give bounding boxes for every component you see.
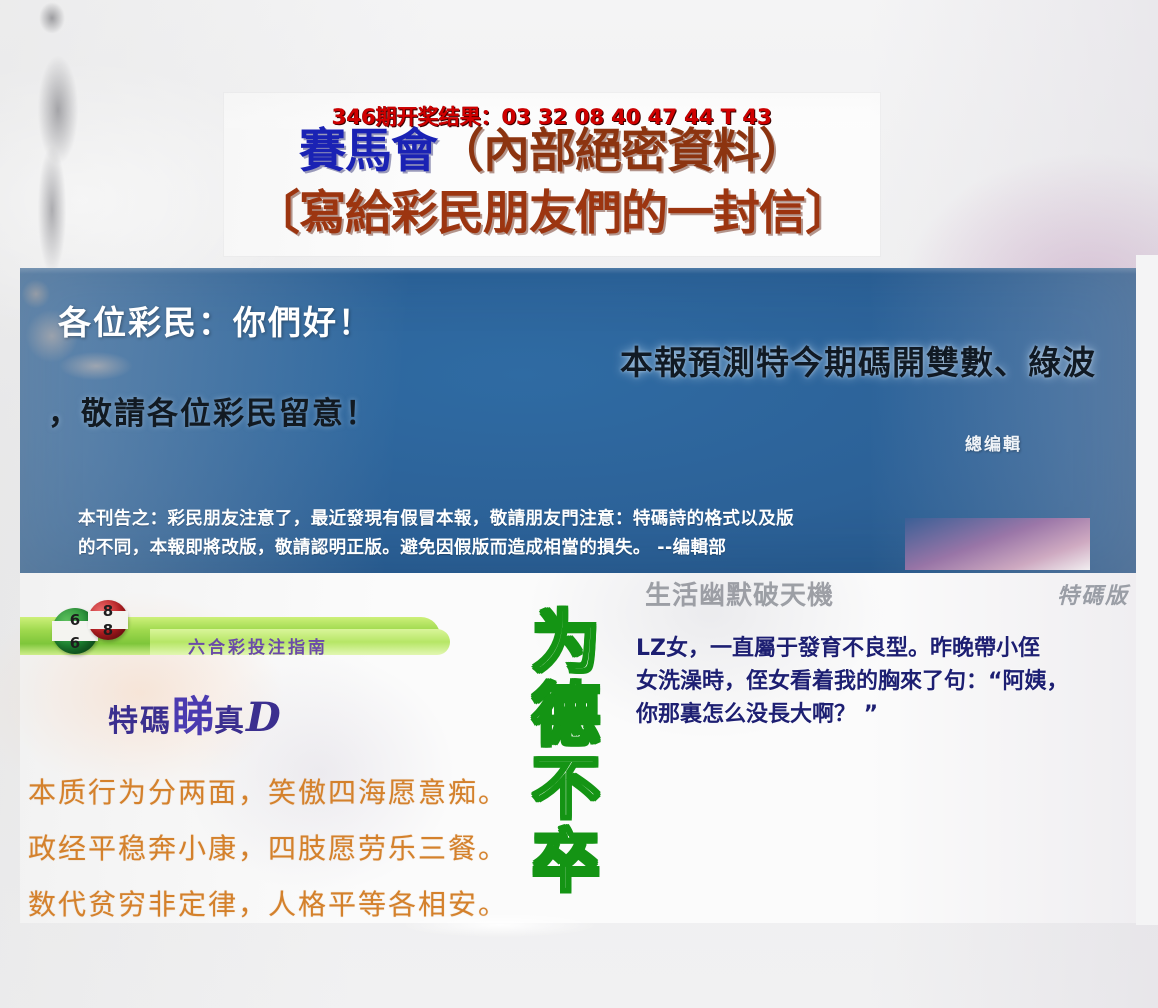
- vertical-phrase-char-3: 不: [528, 753, 604, 826]
- figure-silhouette-left-icon: [0, 0, 120, 270]
- joke-line-1: LZ女，一直屬于發育不良型。昨晚帶小侄: [636, 632, 1086, 665]
- header-card: 346期开奖结果：03 32 08 40 47 44 T 43 賽馬會（內部絕密…: [224, 93, 880, 256]
- masthead-subtitle: （內部絕密資料）: [437, 124, 805, 179]
- ball-red-bottom-number: 8: [88, 621, 128, 639]
- right-margin-strip: [1136, 255, 1158, 925]
- vertical-phrase: 为 德 不 卒: [528, 607, 604, 899]
- tema-logo-big: 睇: [172, 692, 214, 741]
- masthead-line-2: 〔寫給彩民朋友們的一封信〕: [224, 183, 880, 245]
- guide-banner-label: 六合彩投注指南: [188, 633, 328, 658]
- letter-prediction: 本報預測特今期碼開雙數、綠波: [620, 336, 1096, 384]
- pink-gradient-overlay: [905, 518, 1090, 570]
- letter-signature: 總编輯: [965, 430, 1022, 455]
- joke-watermark: 生活幽默破天機: [645, 575, 834, 612]
- draw-result-text: 346期开奖结果：03 32 08 40 47 44 T 43: [224, 101, 880, 131]
- tema-logo: 特碼睇真D: [108, 683, 283, 744]
- lottery-ball-red-icon: 8 8: [88, 600, 128, 640]
- tema-logo-mid: 真: [214, 704, 246, 739]
- masthead: 賽馬會（內部絕密資料） 〔寫給彩民朋友們的一封信〕: [224, 121, 880, 245]
- masthead-brand: 賽馬會: [299, 124, 437, 179]
- joke-text-block: LZ女，一直屬于發育不良型。昨晚帶小侄 女洗澡時，侄女看着我的胸來了句：“阿姨，…: [636, 632, 1086, 731]
- bottom-brush-decoration: [360, 905, 640, 945]
- joke-line-3: 你那裏怎么没長大啊？ ”: [636, 698, 1086, 731]
- vertical-phrase-char-2: 德: [528, 680, 604, 753]
- letter-notice: ，敬請各位彩民留意！: [48, 388, 378, 433]
- joke-line-2: 女洗澡時，侄女看着我的胸來了句：“阿姨，: [636, 665, 1086, 698]
- ball-red-top-number: 8: [88, 602, 128, 620]
- tema-logo-prefix: 特碼: [108, 704, 172, 739]
- vertical-phrase-char-4: 卒: [528, 826, 604, 899]
- lottery-poster: 346期开奖结果：03 32 08 40 47 44 T 43 賽馬會（內部絕密…: [0, 0, 1158, 1008]
- tema-version-label: 特碼版: [1057, 578, 1129, 610]
- poem-line-1: 本质行为分两面，笑傲四海愿意痴。: [28, 765, 508, 821]
- letter-greeting: 各位彩民：你們好！: [58, 296, 373, 344]
- poem-line-2: 政经平稳奔小康，四肢愿劳乐三餐。: [28, 821, 508, 877]
- vertical-phrase-char-1: 为: [528, 607, 604, 680]
- tema-logo-d: D: [246, 694, 283, 741]
